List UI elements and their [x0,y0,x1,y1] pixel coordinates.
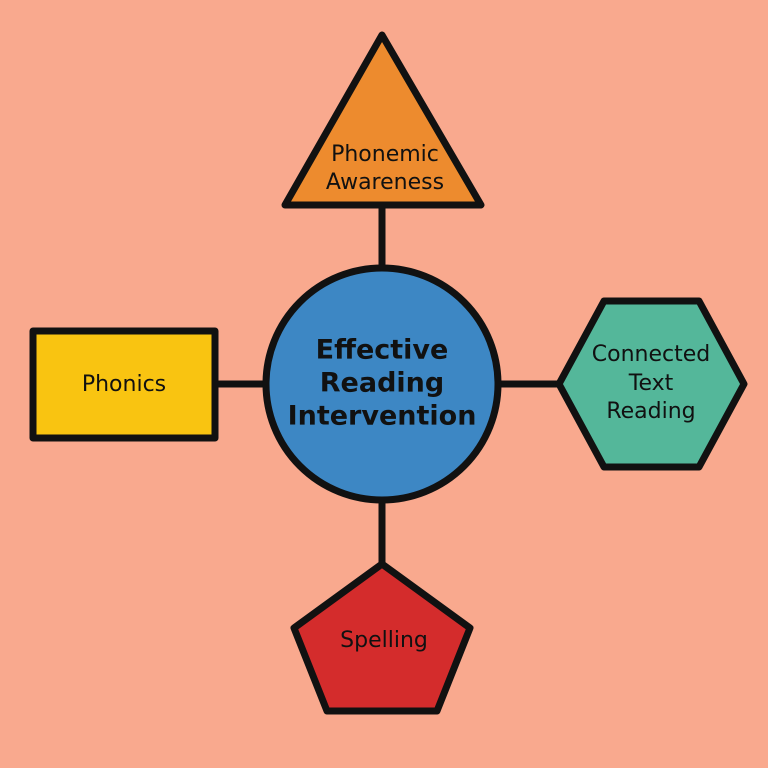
center-label-line: Reading [320,368,444,399]
node-label-line: Phonics [82,372,166,397]
center-label-line: Effective [316,335,449,366]
node-label-line: Awareness [326,170,444,195]
center-label-line: Intervention [288,401,477,432]
node-phonics[interactable]: Phonics [33,331,215,438]
node-connected-text-reading[interactable]: Connected Text Reading [559,301,744,467]
node-label-line: Phonemic [331,142,439,167]
node-label-line: Text [628,371,674,396]
node-effective-reading-intervention[interactable]: Effective Reading Intervention [266,268,498,500]
node-label-line: Spelling [340,628,428,653]
diagram-canvas: Phonemic Awareness Phonics Connected Tex… [0,0,768,768]
reading-intervention-diagram: Phonemic Awareness Phonics Connected Tex… [0,0,768,768]
node-label-line: Reading [606,399,695,424]
node-label-line: Connected [592,342,710,367]
